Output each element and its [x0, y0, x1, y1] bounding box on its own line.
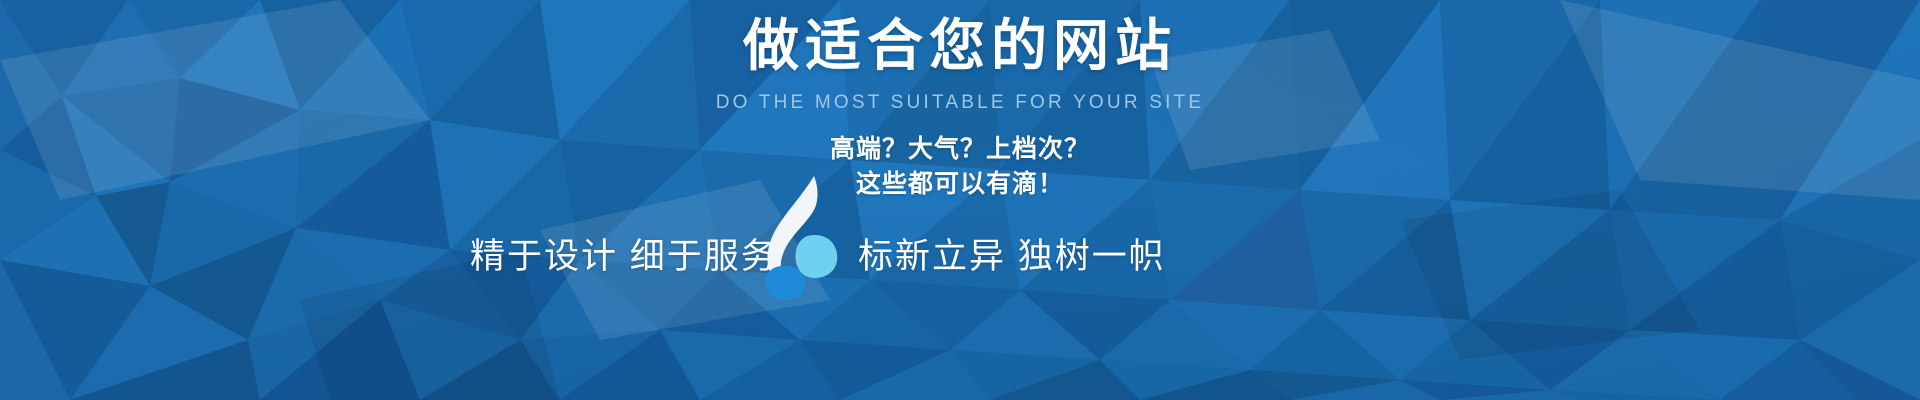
tagline-line-2: 这些都可以有滴！ — [0, 167, 1920, 202]
flame-leaf-logo — [745, 174, 855, 300]
tagline-block: 高端？大气？上档次？ 这些都可以有滴！ — [0, 132, 1920, 201]
logo-leaf-upper — [795, 235, 837, 278]
slogan-left: 精于设计 细于服务 — [470, 228, 778, 279]
page-title: 做适合您的网站 — [0, 14, 1920, 78]
banner-content: 做适合您的网站 DO THE MOST SUITABLE FOR YOUR SI… — [0, 0, 1920, 400]
slogan-right: 标新立异 独树一帜 — [858, 228, 1166, 279]
hero-banner: 做适合您的网站 DO THE MOST SUITABLE FOR YOUR SI… — [0, 0, 1920, 400]
logo-leaf-lower — [765, 266, 805, 300]
tagline-line-1: 高端？大气？上档次？ — [0, 132, 1920, 167]
subtitle-english: DO THE MOST SUITABLE FOR YOUR SITE — [0, 92, 1920, 114]
